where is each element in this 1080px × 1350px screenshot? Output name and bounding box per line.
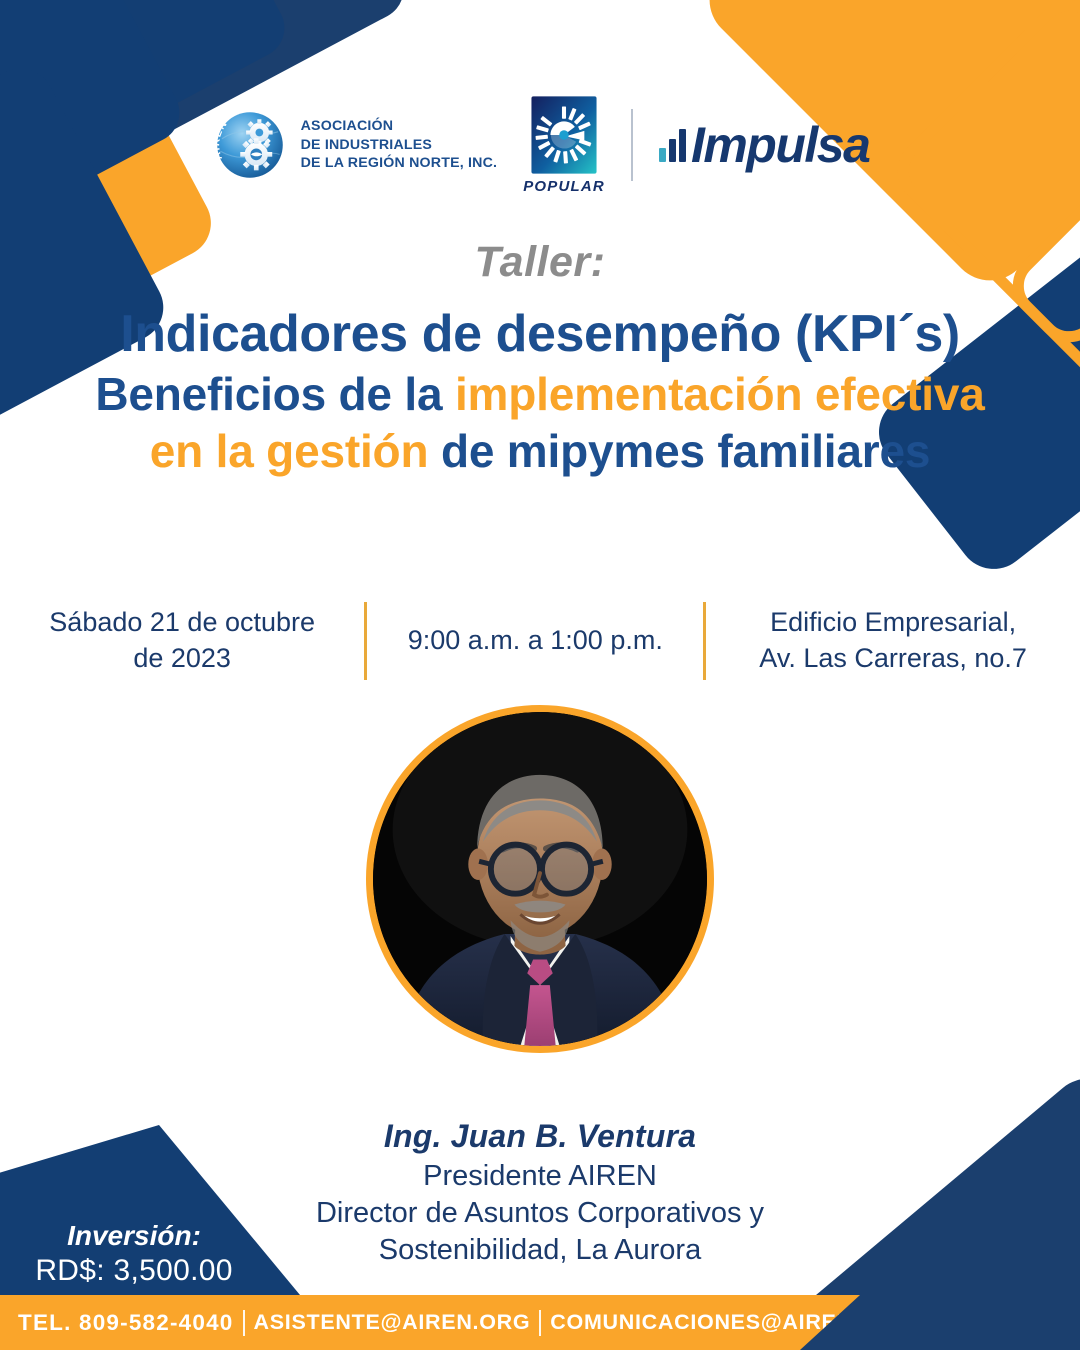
page-title: Indicadores de desempeño (KPI´s) Benefic…	[0, 305, 1080, 477]
event-flyer: AIREN ASOCIACIÓN DE INDUSTRIALES DE LA R…	[0, 0, 1080, 1350]
title-line-2-highlight: implementación efectiva	[455, 368, 985, 420]
popular-logo-lockup: POPULAR	[523, 95, 605, 195]
airen-line-3: DE LA REGIÓN NORTE, INC.	[301, 154, 498, 173]
contact-email-1[interactable]: ASISTENTE@AIREN.ORG	[245, 1310, 540, 1335]
contact-phone[interactable]: TEL. 809-582-4040	[18, 1310, 243, 1336]
contact-footer: TEL. 809-582-4040 ASISTENTE@AIREN.ORG CO…	[0, 1295, 1080, 1350]
title-line-2: Beneficios de la implementación efectiva	[0, 368, 1080, 420]
speaker-role-1: Presidente AIREN	[0, 1159, 1080, 1194]
title-line-1: Indicadores de desempeño (KPI´s)	[0, 305, 1080, 364]
investment-label: Inversión:	[0, 1220, 268, 1252]
event-location: Edificio Empresarial, Av. Las Carreras, …	[706, 605, 1080, 677]
impulsa-wordmark: Impulsa	[691, 120, 869, 170]
logo-divider	[631, 109, 633, 181]
event-date: Sábado 21 de octubre de 2023	[0, 605, 364, 677]
title-line-3-highlight: en la gestión	[150, 425, 429, 477]
event-time: 9:00 a.m. a 1:00 p.m.	[367, 623, 703, 659]
airen-globe-gears-icon: AIREN	[211, 106, 289, 184]
impulsa-logo-lockup: Impulsa	[659, 120, 869, 170]
title-line-2-plain: Beneficios de la	[95, 368, 455, 420]
event-location-line-1: Edificio Empresarial,	[732, 605, 1054, 641]
airen-line-2: DE INDUSTRIALES	[301, 136, 498, 155]
event-date-line-1: Sábado 21 de octubre	[26, 605, 338, 641]
sponsor-logo-row: AIREN ASOCIACIÓN DE INDUSTRIALES DE LA R…	[0, 95, 1080, 195]
investment-block: Inversión: RD$: 3,500.00	[0, 1220, 268, 1288]
title-line-3: en la gestión de mipymes familiares	[0, 425, 1080, 477]
event-date-line-2: de 2023	[26, 641, 338, 677]
airen-logo-lockup: AIREN ASOCIACIÓN DE INDUSTRIALES DE LA R…	[211, 106, 498, 184]
title-line-3-plain: de mipymes familiares	[428, 425, 930, 477]
event-details-row: Sábado 21 de octubre de 2023 9:00 a.m. a…	[0, 602, 1080, 680]
speaker-name: Ing. Juan B. Ventura	[0, 1118, 1080, 1155]
contact-divider-1	[243, 1310, 245, 1336]
popular-wordmark: POPULAR	[523, 178, 605, 195]
investment-amount: RD$: 3,500.00	[0, 1254, 268, 1288]
contact-email-2[interactable]: COMUNICACIONES@AIREN.ORG	[541, 1310, 919, 1335]
speaker-portrait	[366, 705, 714, 1053]
event-location-line-2: Av. Las Carreras, no.7	[732, 641, 1054, 677]
impulsa-bars-icon	[659, 128, 686, 162]
airen-logo-text: ASOCIACIÓN DE INDUSTRIALES DE LA REGIÓN …	[301, 117, 498, 174]
eyebrow-taller: Taller:	[0, 238, 1080, 287]
popular-sunburst-icon	[530, 95, 598, 175]
airen-line-1: ASOCIACIÓN	[301, 117, 498, 136]
contact-divider-2	[539, 1310, 541, 1336]
